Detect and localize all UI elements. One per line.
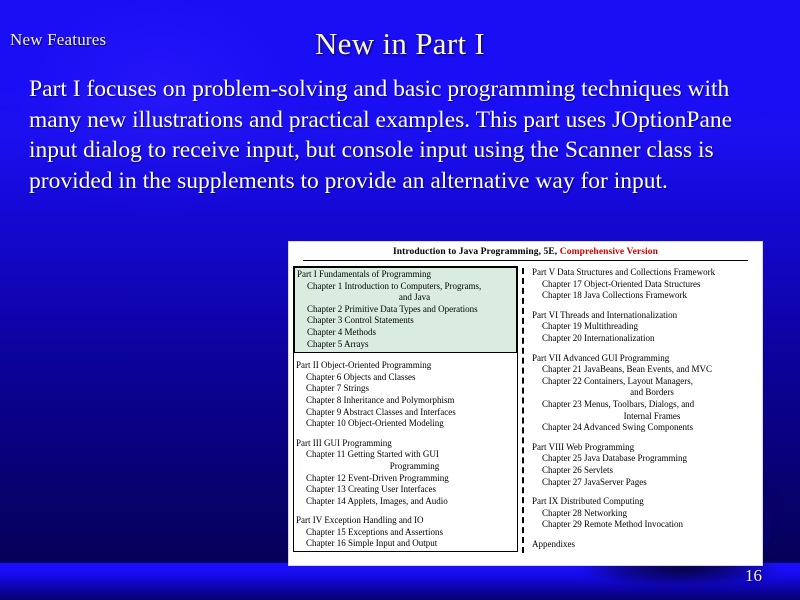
toc-section: Part IV Exception Handling and IOChapter… [294, 514, 517, 551]
toc-chapter-item: Chapter 8 Inheritance and Polymorphism [294, 395, 517, 407]
toc-part-title: Appendixes [530, 539, 756, 551]
toc-chapter-item: Chapter 17 Object-Oriented Data Structur… [530, 279, 756, 291]
slide-page-number: 16 [745, 566, 762, 586]
toc-chapter-item: Chapter 24 Advanced Swing Components [530, 422, 756, 434]
toc-chapter-item: Chapter 27 JavaServer Pages [530, 477, 756, 489]
toc-column-divider [522, 268, 524, 553]
toc-part-title: Part VII Advanced GUI Programming [530, 353, 756, 365]
toc-chapter-item: Chapter 4 Methods [295, 327, 516, 339]
toc-chapter-item: Chapter 2 Primitive Data Types and Opera… [295, 304, 516, 316]
toc-chapter-continuation: Internal Frames [530, 411, 756, 423]
toc-chapter-item: Chapter 26 Servlets [530, 465, 756, 477]
toc-part-title: Part V Data Structures and Collections F… [530, 267, 756, 279]
toc-chapter-item: Chapter 13 Creating User Interfaces [294, 484, 517, 496]
toc-chapter-item: Chapter 28 Networking [530, 508, 756, 520]
toc-chapter-item: Chapter 7 Strings [294, 383, 517, 395]
toc-chapter-item: Chapter 15 Exceptions and Assertions [294, 527, 517, 539]
toc-chapter-item: Chapter 19 Multithreading [530, 321, 756, 333]
page-title: New in Part I [0, 26, 800, 62]
slide-body-text: Part I focuses on problem-solving and ba… [29, 74, 781, 196]
toc-chapter-continuation: and Borders [530, 387, 756, 399]
toc-left-box: Part I Fundamentals of ProgrammingChapte… [293, 266, 518, 552]
toc-part-title: Part III GUI Programming [294, 438, 517, 450]
toc-chapter-item: Chapter 20 Internationalization [530, 333, 756, 345]
presentation-slide: New Features New in Part I Part I focuse… [0, 0, 800, 600]
toc-chapter-continuation: Programming [294, 461, 517, 473]
toc-chapter-item: Chapter 21 JavaBeans, Bean Events, and M… [530, 364, 756, 376]
toc-chapter-item: Chapter 29 Remote Method Invocation [530, 519, 756, 531]
toc-chapter-item: Chapter 18 Java Collections Framework [530, 290, 756, 302]
toc-heading-main: Introduction to Java Programming, 5E, [393, 247, 557, 257]
toc-chapter-item: Chapter 1 Introduction to Computers, Pro… [295, 281, 516, 293]
toc-section: Part VIII Web ProgrammingChapter 25 Java… [530, 441, 756, 489]
toc-section: Part III GUI ProgrammingChapter 11 Getti… [294, 437, 517, 509]
toc-chapter-item: Chapter 9 Abstract Classes and Interface… [294, 407, 517, 419]
toc-chapter-item: Chapter 16 Simple Input and Output [294, 538, 517, 550]
toc-section: Part V Data Structures and Collections F… [530, 266, 756, 303]
toc-chapter-item: Chapter 22 Containers, Layout Managers, [530, 376, 756, 388]
toc-chapter-item: Chapter 11 Getting Started with GUI [294, 449, 517, 461]
toc-chapter-item: Chapter 23 Menus, Toolbars, Dialogs, and [530, 399, 756, 411]
toc-left-column: Part I Fundamentals of ProgrammingChapte… [289, 266, 521, 555]
toc-columns: Part I Fundamentals of ProgrammingChapte… [289, 261, 762, 555]
toc-part-title: Part IX Distributed Computing [530, 496, 756, 508]
toc-heading: Introduction to Java Programming, 5E, Co… [289, 242, 762, 257]
table-of-contents-image: Introduction to Java Programming, 5E, Co… [288, 241, 763, 566]
toc-part-title: Part I Fundamentals of Programming [295, 269, 516, 281]
toc-section: Part VI Threads and Internationalization… [530, 309, 756, 346]
toc-chapter-item: Chapter 6 Objects and Classes [294, 372, 517, 384]
toc-section: Part VII Advanced GUI ProgrammingChapter… [530, 352, 756, 435]
toc-part-title: Part II Object-Oriented Programming [294, 360, 517, 372]
toc-chapter-item: Chapter 25 Java Database Programming [530, 453, 756, 465]
toc-chapter-item: Chapter 12 Event-Driven Programming [294, 473, 517, 485]
toc-section: Appendixes [530, 538, 756, 552]
toc-part-title: Part IV Exception Handling and IO [294, 515, 517, 527]
toc-section: Part IX Distributed ComputingChapter 28 … [530, 495, 756, 532]
toc-heading-accent: Comprehensive Version [560, 247, 658, 257]
toc-right-column: Part V Data Structures and Collections F… [530, 266, 759, 555]
toc-part-title: Part VIII Web Programming [530, 442, 756, 454]
toc-section: Part II Object-Oriented ProgrammingChapt… [294, 359, 517, 431]
toc-chapter-item: Chapter 3 Control Statements [295, 315, 516, 327]
toc-chapter-item: Chapter 14 Applets, Images, and Audio [294, 496, 517, 508]
toc-section: Part I Fundamentals of ProgrammingChapte… [294, 267, 517, 353]
toc-chapter-item: Chapter 10 Object-Oriented Modeling [294, 418, 517, 430]
toc-chapter-continuation: and Java [295, 292, 516, 304]
toc-part-title: Part VI Threads and Internationalization [530, 310, 756, 322]
toc-chapter-item: Chapter 5 Arrays [295, 339, 516, 351]
